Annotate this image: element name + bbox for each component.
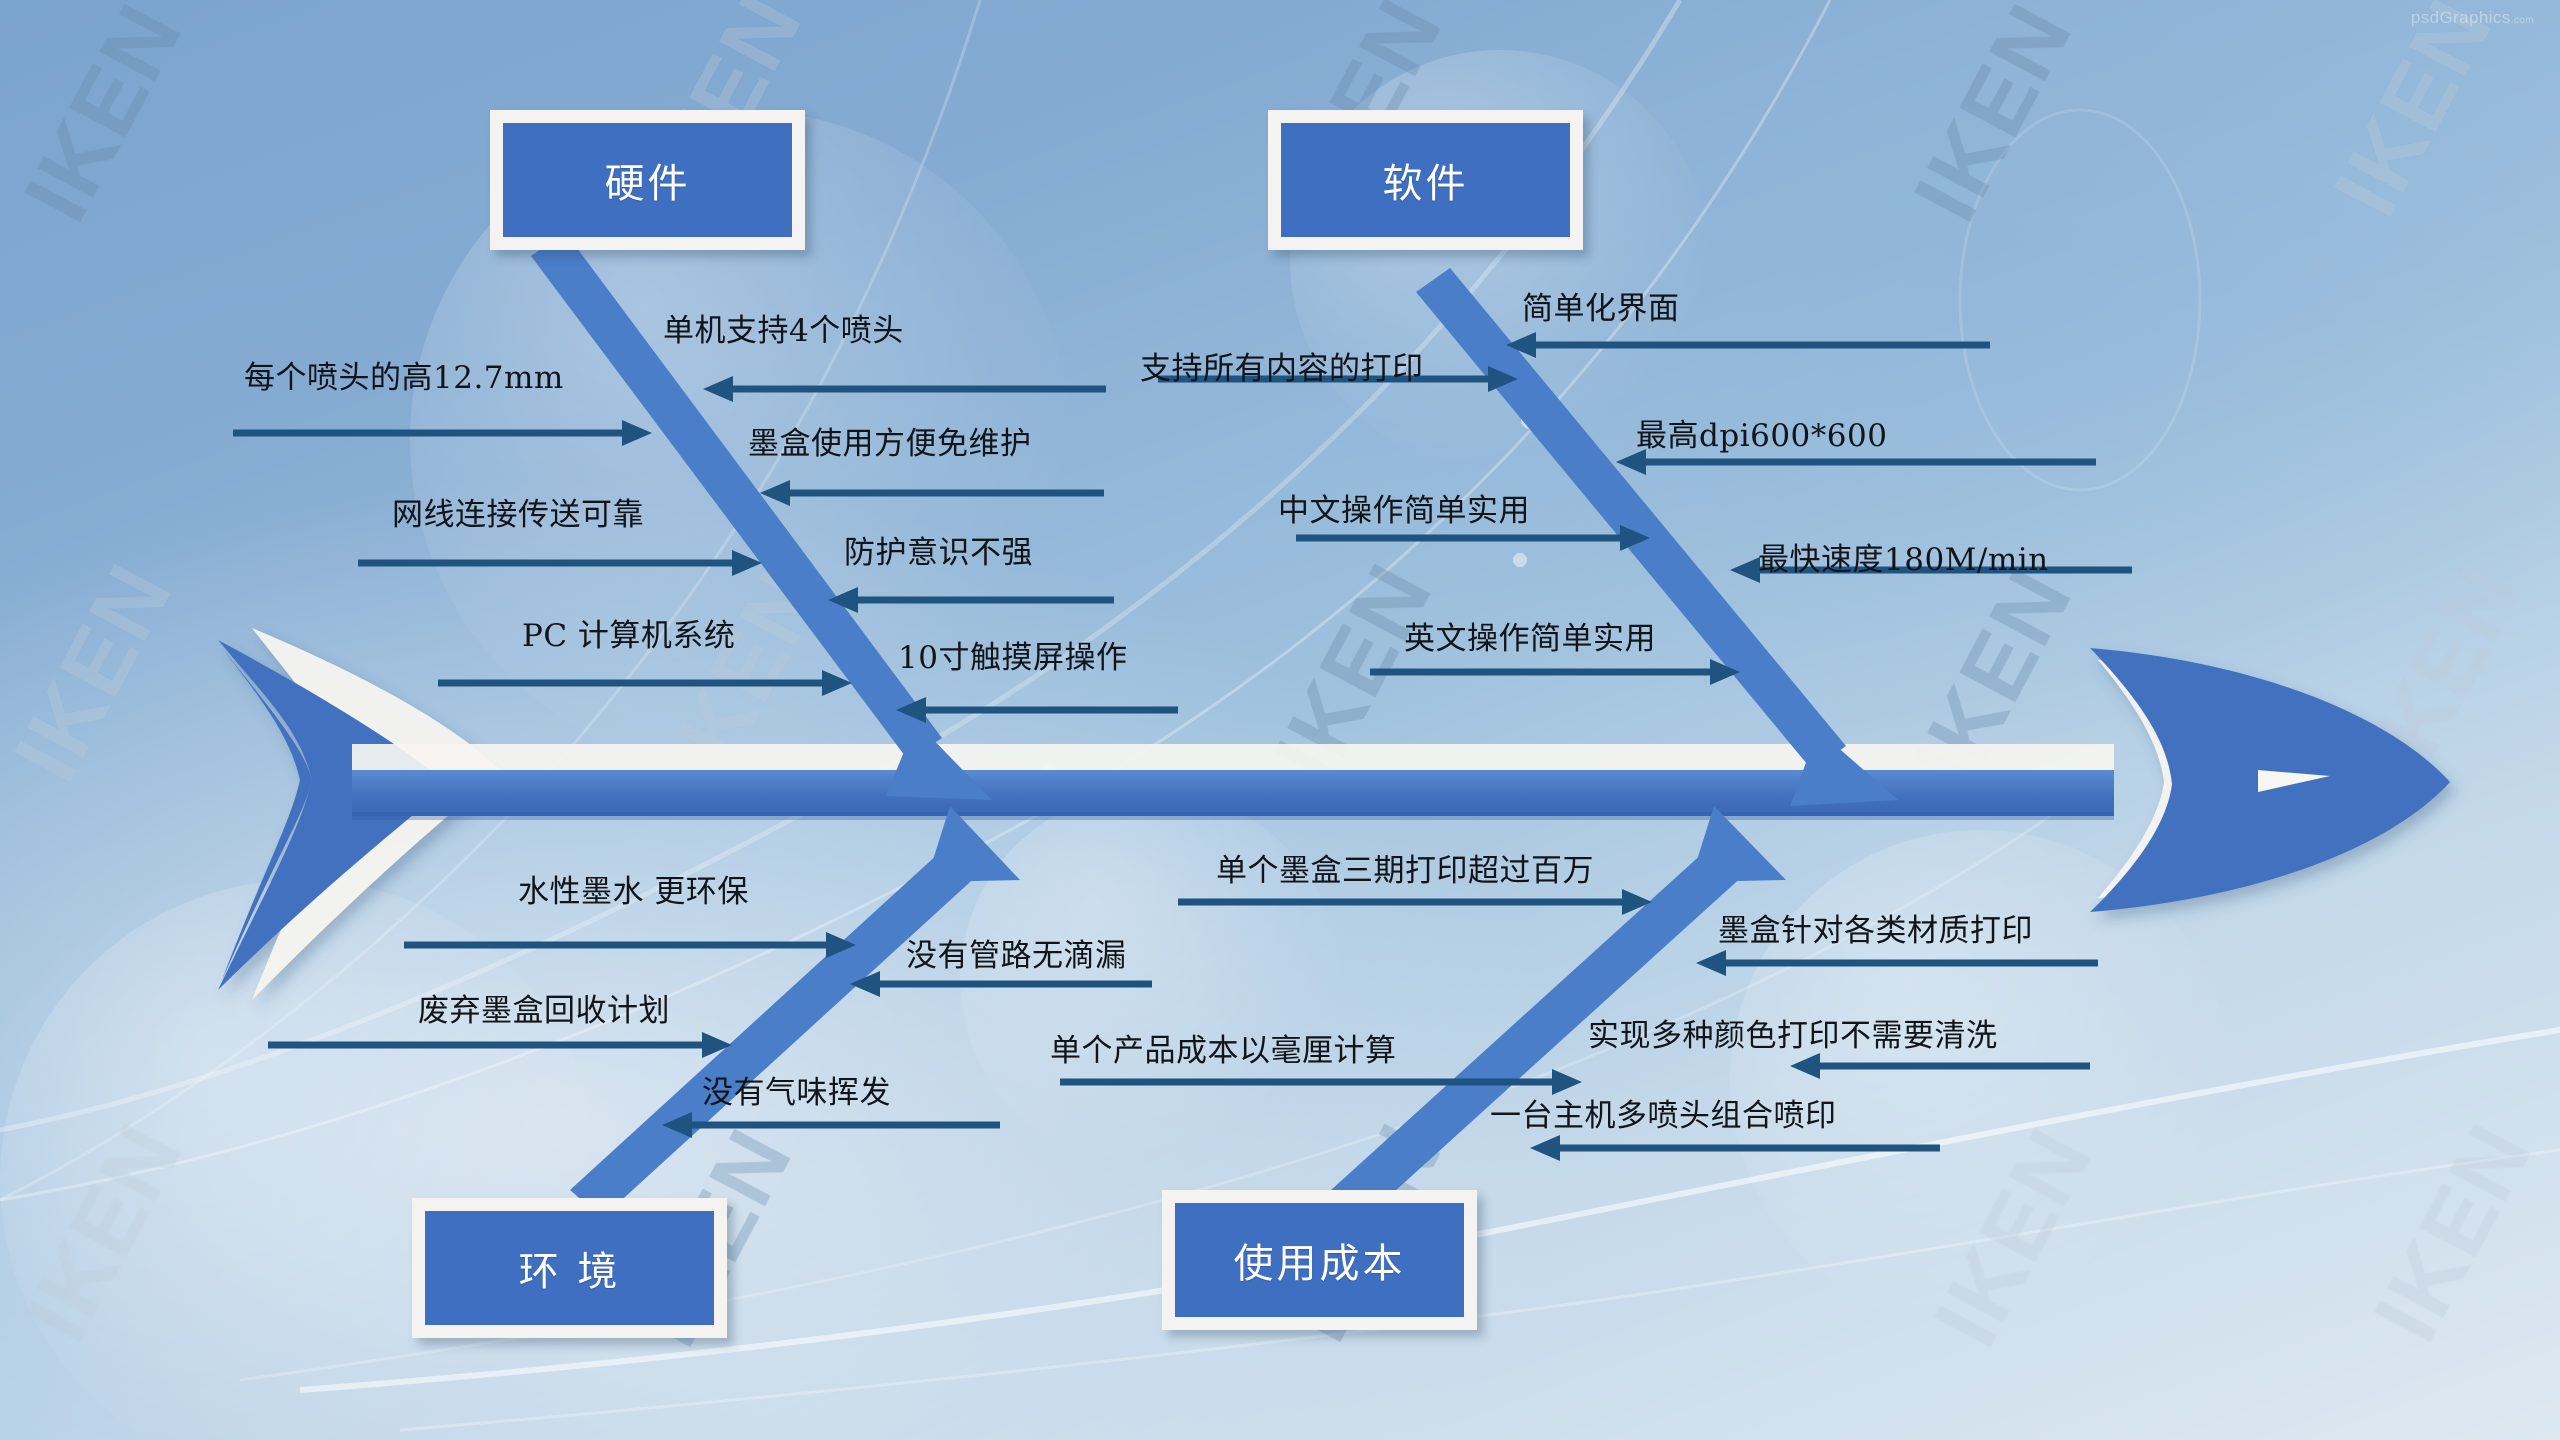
category-label-software: 软件: [1281, 123, 1570, 237]
cause-label-software-4: 中文操作简单实用: [1278, 485, 1530, 530]
cause-label-software-6: 英文操作简单实用: [1404, 613, 1656, 658]
cause-label-software-1: 简单化界面: [1522, 283, 1680, 328]
category-label-environment: 环 境: [425, 1211, 714, 1325]
cause-label-cost-1: 单个墨盒三期打印超过百万: [1216, 845, 1594, 890]
cause-label-environment-1: 水性墨水 更环保: [518, 866, 749, 911]
cause-label-cost-2: 墨盒针对各类材质打印: [1718, 905, 2033, 950]
cause-label-environment-2: 没有管路无滴漏: [906, 930, 1127, 975]
arrow-hardware-4: [358, 550, 762, 576]
cause-label-cost-4: 实现多种颜色打印不需要清洗: [1588, 1010, 1998, 1055]
fishbone-diagram-canvas: IKEN IKEN IKEN IKEN IKEN IKEN IKEN IKEN …: [0, 0, 2560, 1440]
category-label-hardware: 硬件: [503, 123, 792, 237]
arrow-hardware-3: [760, 480, 1104, 506]
cause-label-hardware-3: 墨盒使用方便免维护: [748, 418, 1032, 463]
cause-label-hardware-7: 10寸触摸屏操作: [898, 632, 1127, 677]
arrow-cost-1: [1178, 889, 1652, 915]
cause-label-hardware-5: 防护意识不强: [844, 527, 1033, 572]
cause-label-software-3: 最高dpi600*600: [1636, 410, 1887, 455]
category-label-cost: 使用成本: [1175, 1203, 1464, 1317]
category-box-hardware[interactable]: 硬件: [490, 110, 805, 250]
arrow-hardware-7: [896, 697, 1178, 723]
cause-label-cost-3: 单个产品成本以毫厘计算: [1050, 1025, 1397, 1070]
category-box-cost[interactable]: 使用成本: [1162, 1190, 1477, 1330]
arrow-hardware-1: [233, 420, 652, 446]
cause-label-environment-4: 没有气味挥发: [702, 1067, 891, 1112]
cause-label-cost-5: 一台主机多喷头组合喷印: [1490, 1090, 1837, 1135]
category-box-software[interactable]: 软件: [1268, 110, 1583, 250]
arrow-environment-3: [268, 1032, 732, 1058]
arrow-hardware-2: [703, 376, 1106, 402]
cause-label-hardware-2: 单机支持4个喷头: [663, 305, 904, 350]
cause-label-hardware-4: 网线连接传送可靠: [392, 489, 644, 534]
cause-label-environment-3: 废弃墨盒回收计划: [418, 985, 670, 1030]
arrow-hardware-5: [828, 587, 1114, 613]
arrow-environment-1: [404, 932, 856, 958]
cause-label-software-2: 支持所有内容的打印: [1140, 343, 1424, 388]
cause-label-software-5: 最快速度180M/min: [1758, 534, 2049, 579]
category-box-environment[interactable]: 环 境: [412, 1198, 727, 1338]
cause-label-hardware-6: PC 计算机系统: [522, 610, 735, 655]
fish-head: [2090, 648, 2450, 912]
arrow-cost-5: [1530, 1135, 1940, 1161]
arrow-cost-4: [1790, 1053, 2090, 1079]
cause-label-hardware-1: 每个喷头的高12.7mm: [244, 352, 564, 397]
arrow-software-1: [1506, 332, 1990, 358]
arrow-cost-2: [1696, 950, 2098, 976]
arrow-hardware-6: [438, 670, 852, 696]
arrow-software-6: [1370, 659, 1740, 685]
